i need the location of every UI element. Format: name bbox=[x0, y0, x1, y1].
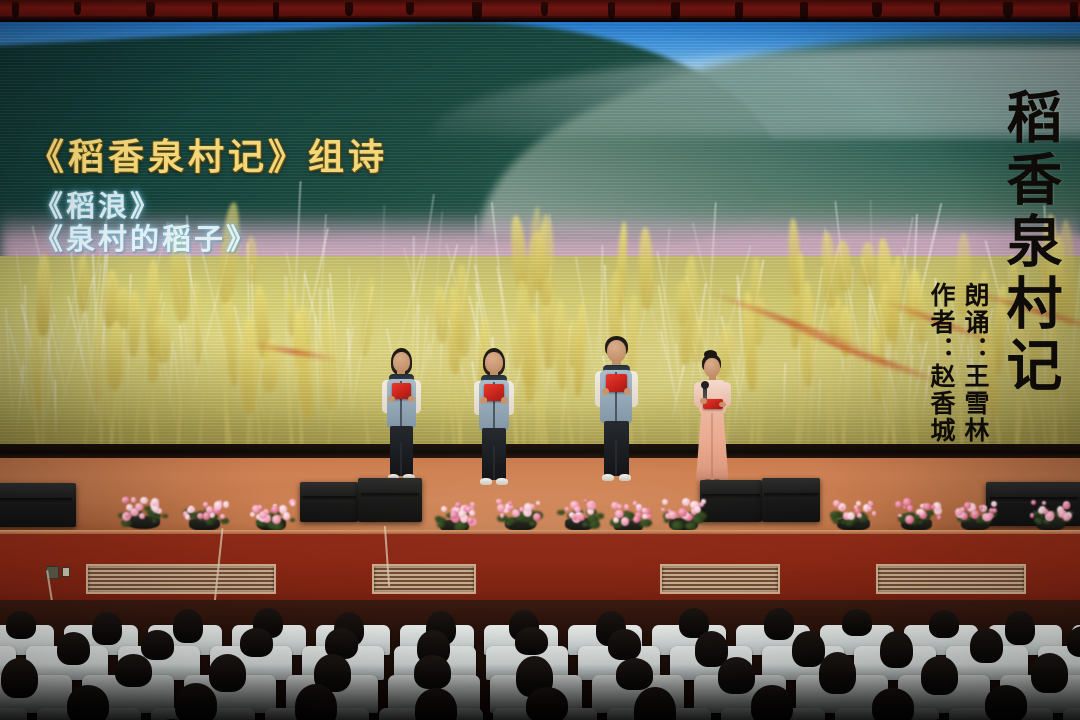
flower-bloom bbox=[1031, 500, 1036, 505]
flower-bloom bbox=[662, 499, 668, 505]
flower-bloom bbox=[508, 501, 513, 506]
flower-bloom bbox=[185, 514, 190, 519]
flower-leaf bbox=[589, 521, 600, 529]
performer-shoe-right bbox=[496, 478, 508, 485]
flower-bloom bbox=[895, 501, 902, 508]
flower-bloom bbox=[533, 513, 541, 521]
flower-bloom bbox=[905, 515, 914, 524]
host-hand-left bbox=[700, 398, 707, 405]
flower-bloom bbox=[572, 515, 577, 520]
audience-head bbox=[415, 688, 457, 720]
stage-monitor-speaker bbox=[700, 480, 762, 522]
stage-monitor-speaker bbox=[0, 483, 76, 527]
flower-bloom bbox=[624, 504, 629, 509]
audience-head bbox=[515, 627, 548, 656]
flower-bloom bbox=[615, 510, 622, 517]
flower-bloom bbox=[661, 508, 665, 512]
flower-leaf bbox=[833, 519, 840, 524]
flower-bloom bbox=[258, 505, 262, 509]
audience-seating bbox=[0, 600, 1080, 720]
flower-arrangement bbox=[496, 498, 546, 532]
wall-vent-grille bbox=[660, 564, 780, 594]
flower-bloom bbox=[1038, 508, 1044, 514]
flower-bloom bbox=[524, 503, 533, 512]
performer-shoe-left bbox=[602, 474, 615, 481]
performer-shoe-right bbox=[619, 474, 632, 481]
valance-tassel bbox=[74, 2, 81, 15]
flower-bloom bbox=[131, 497, 137, 503]
audience-head bbox=[751, 685, 793, 720]
flower-bloom bbox=[1063, 514, 1070, 521]
performer-trouser-gap bbox=[400, 443, 402, 476]
flower-bloom bbox=[441, 506, 447, 512]
performer-trouser-gap bbox=[615, 440, 617, 476]
flower-bloom bbox=[867, 506, 872, 511]
performer-hand-left bbox=[388, 396, 395, 403]
flower-bloom bbox=[214, 501, 222, 509]
screen-bottom-frame bbox=[0, 444, 1080, 458]
valance-tassel bbox=[1003, 2, 1013, 18]
flower-leaf bbox=[685, 522, 697, 530]
flower-leaf bbox=[596, 513, 604, 519]
flower-bloom bbox=[682, 498, 690, 506]
auditorium-photo: 《稻香泉村记》组诗 《稻浪》 《泉村的稻子》 稻香泉村记 朗诵：王雪林 作者：赵… bbox=[0, 0, 1080, 720]
performer-hand-right bbox=[501, 397, 508, 404]
flower-bloom bbox=[470, 502, 475, 507]
flower-bloom bbox=[467, 517, 474, 524]
valance-tassel bbox=[735, 2, 743, 21]
flower-leaf bbox=[435, 516, 441, 520]
audience-head bbox=[526, 687, 568, 720]
flower-arrangement bbox=[660, 498, 708, 532]
flower-bloom bbox=[633, 516, 640, 523]
flower-bloom bbox=[937, 515, 942, 520]
flower-bloom bbox=[856, 501, 861, 506]
performer-host bbox=[689, 352, 735, 491]
performer-head bbox=[485, 352, 503, 373]
flower-bloom bbox=[536, 501, 540, 505]
flower-bloom bbox=[923, 503, 931, 511]
flower-bloom bbox=[701, 499, 706, 504]
valance-tassel bbox=[472, 2, 482, 20]
flower-leaf bbox=[830, 511, 840, 518]
flower-bloom bbox=[1030, 513, 1035, 518]
screen-reciter-credit: 朗诵：王雪林 bbox=[963, 282, 988, 444]
flower-leaf bbox=[290, 518, 295, 522]
stage-monitor-speaker bbox=[762, 478, 820, 522]
wall-outlet-plate bbox=[62, 567, 70, 577]
flower-arrangement bbox=[432, 500, 478, 534]
valance-tassel bbox=[541, 2, 548, 16]
led-backdrop-screen: 《稻香泉村记》组诗 《稻浪》 《泉村的稻子》 稻香泉村记 朗诵：王雪林 作者：赵… bbox=[0, 20, 1080, 458]
valance-tassel bbox=[12, 2, 19, 18]
stage-monitor-speaker bbox=[358, 478, 422, 522]
valance-tassel bbox=[212, 2, 218, 19]
valance-tassel bbox=[345, 2, 353, 16]
flower-bloom bbox=[907, 505, 914, 512]
flower-bloom bbox=[617, 504, 623, 510]
flower-bloom bbox=[984, 514, 991, 521]
performer-head bbox=[607, 340, 626, 362]
performer-student bbox=[471, 348, 517, 488]
flower-leaf bbox=[671, 521, 684, 530]
flower-arrangement bbox=[248, 498, 296, 532]
host-skirt-fold bbox=[711, 413, 713, 476]
valance-tassel bbox=[800, 2, 808, 21]
valance-tassel bbox=[146, 2, 155, 17]
wheat-ear bbox=[35, 254, 52, 336]
flower-leaf bbox=[841, 520, 846, 524]
curtain-valance bbox=[0, 0, 1080, 22]
performer-student bbox=[592, 336, 641, 484]
flower-bloom bbox=[872, 511, 876, 515]
flower-bloom bbox=[125, 513, 130, 518]
flower-bloom bbox=[857, 513, 862, 518]
screen-subtitle-2: 《泉村的稻子》 bbox=[34, 216, 258, 258]
performer-shoe-left bbox=[480, 478, 492, 485]
flower-arrangement bbox=[828, 498, 880, 532]
audience-head bbox=[295, 684, 337, 720]
flower-bloom bbox=[991, 501, 997, 507]
flower-bloom bbox=[919, 509, 925, 515]
flower-bloom bbox=[458, 510, 466, 518]
audience-head bbox=[872, 688, 914, 720]
audience-head bbox=[985, 685, 1027, 720]
performer-student bbox=[379, 348, 424, 484]
valance-tassel bbox=[273, 2, 279, 20]
flower-bloom bbox=[847, 512, 855, 520]
performer-hand-left bbox=[480, 397, 487, 404]
flower-bloom bbox=[642, 508, 646, 512]
flower-bloom bbox=[1042, 501, 1046, 505]
performer-hand-right bbox=[408, 396, 415, 403]
flower-arrangement bbox=[556, 498, 604, 532]
flower-arrangement bbox=[892, 498, 942, 532]
valance-tassel bbox=[608, 2, 615, 19]
wall-vent-grille bbox=[86, 564, 276, 594]
flower-bloom bbox=[868, 501, 872, 505]
valance-tassel bbox=[406, 2, 414, 15]
audience-head bbox=[634, 687, 676, 720]
screen-vertical-title: 稻香泉村记 bbox=[1002, 88, 1058, 398]
valance-tassel bbox=[1070, 2, 1078, 22]
stage-monitor-speaker bbox=[300, 482, 358, 522]
performer-head bbox=[393, 352, 410, 372]
flower-leaf bbox=[162, 514, 168, 518]
valance-tassel bbox=[872, 2, 882, 17]
flower-bloom bbox=[283, 512, 291, 520]
flower-bloom bbox=[565, 507, 569, 511]
flower-arrangement bbox=[180, 498, 230, 532]
flower-bloom bbox=[1063, 503, 1070, 510]
flower-bloom bbox=[971, 510, 979, 518]
flower-bloom bbox=[450, 511, 457, 518]
flower-leaf bbox=[639, 519, 652, 528]
screen-author-credit: 作者：赵香城 bbox=[929, 282, 954, 444]
flower-arrangement bbox=[952, 498, 1000, 532]
flower-bloom bbox=[124, 497, 130, 503]
flower-bloom bbox=[291, 502, 295, 506]
flower-bloom bbox=[500, 513, 505, 518]
flower-bloom bbox=[668, 511, 677, 520]
performer-trouser-gap bbox=[493, 446, 495, 480]
wheat-ear bbox=[860, 242, 876, 286]
flower-bloom bbox=[903, 506, 907, 510]
wall-vent-grille bbox=[876, 564, 1026, 594]
flower-bloom bbox=[642, 514, 648, 520]
screen-title-main: 《稻香泉村记》组诗 bbox=[28, 128, 388, 180]
flower-bloom bbox=[636, 504, 641, 509]
host-hand-right bbox=[719, 402, 726, 408]
flower-arrangement bbox=[118, 496, 170, 530]
flower-leaf bbox=[505, 521, 512, 526]
audience-head bbox=[175, 683, 217, 720]
flower-arrangement bbox=[1028, 498, 1074, 532]
flower-arrangement bbox=[606, 500, 652, 534]
flower-leaf bbox=[557, 510, 565, 515]
flower-bloom bbox=[223, 501, 229, 507]
flower-bloom bbox=[584, 499, 588, 503]
flower-bloom bbox=[508, 507, 512, 511]
flower-bloom bbox=[272, 515, 281, 524]
audience-row bbox=[0, 682, 1080, 720]
flower-leaf bbox=[1037, 520, 1042, 524]
flower-bloom bbox=[621, 517, 629, 525]
valance-tassel bbox=[934, 2, 940, 16]
wheat-ear bbox=[537, 214, 553, 306]
flower-bloom bbox=[469, 510, 474, 515]
audience-head bbox=[67, 685, 109, 720]
valance-tassel bbox=[671, 2, 680, 21]
